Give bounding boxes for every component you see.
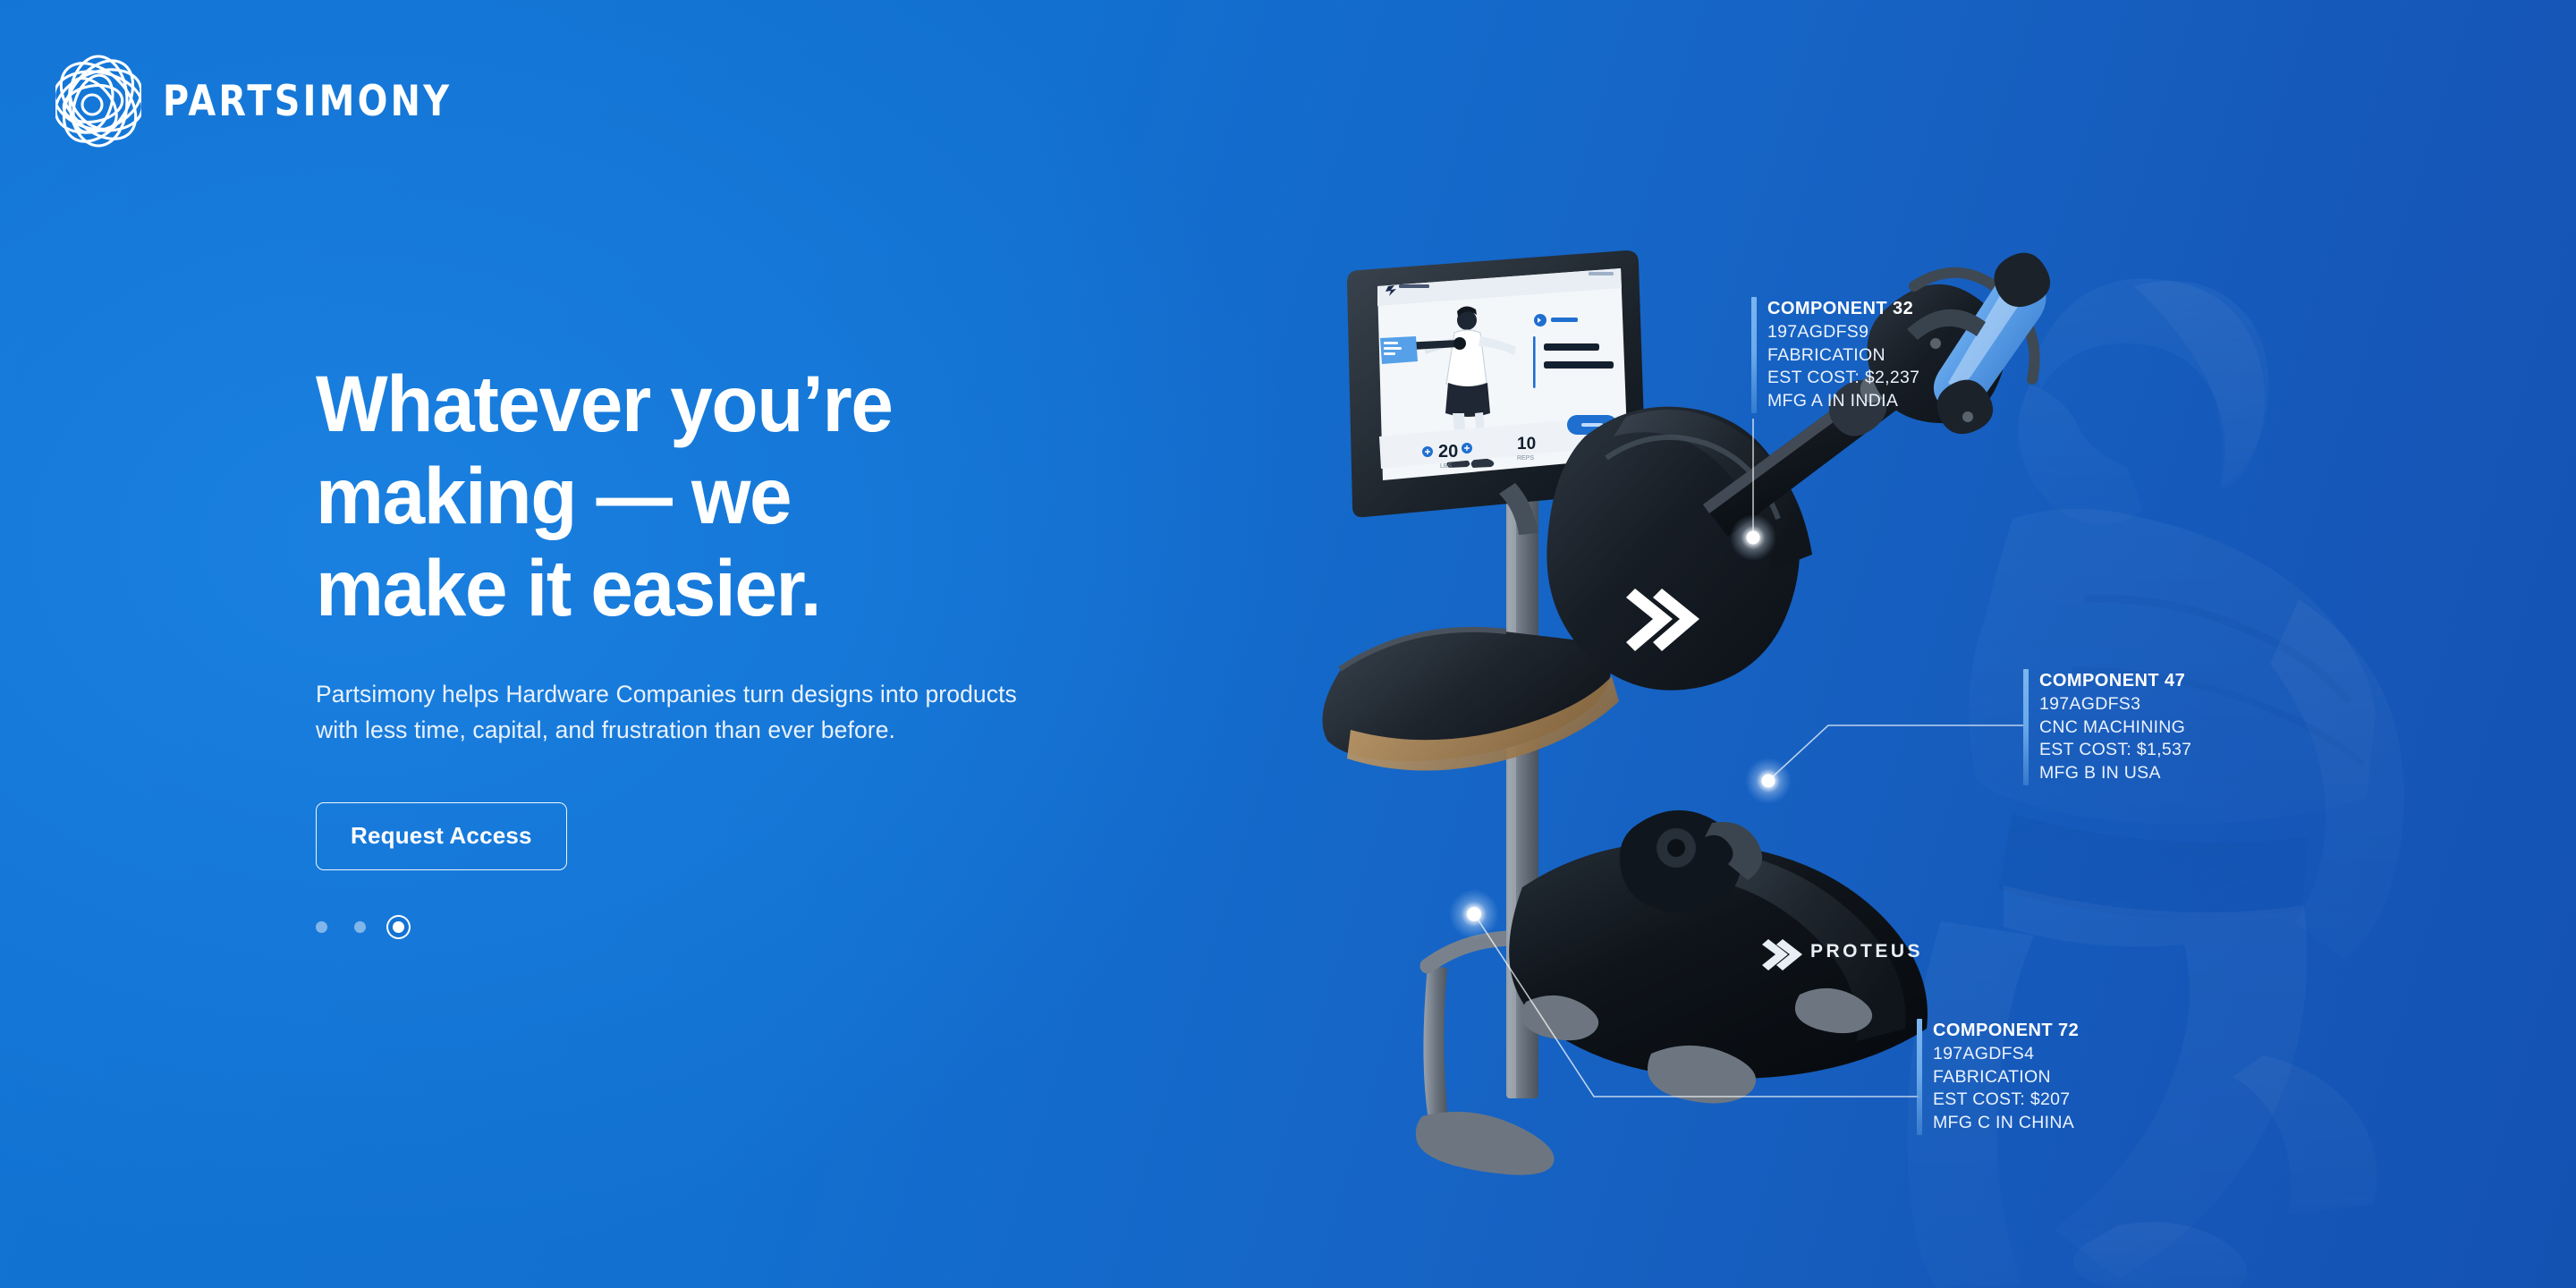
svg-text:10: 10 — [1517, 435, 1536, 453]
carousel-dots[interactable] — [316, 915, 1300, 938]
product-image-proteus-machine: 20 LBS 10 REPS — [1342, 250, 2236, 1199]
bench-seat — [1322, 630, 1619, 771]
svg-text:PROTEUS: PROTEUS — [1810, 941, 1923, 962]
brand-logo[interactable]: PARTSIMONY — [55, 52, 470, 150]
resistance-arm — [1703, 253, 2050, 537]
carousel-dot-3-active[interactable] — [393, 921, 404, 933]
subcopy-line-2: with less time, capital, and frustration… — [316, 716, 895, 743]
hero-copy: Whatever you’re making — we make it easi… — [316, 358, 1300, 938]
page-title: Whatever you’re making — we make it easi… — [316, 358, 1089, 635]
svg-text:REPS: REPS — [1517, 455, 1534, 462]
machine-base: PROTEUS — [1509, 810, 1928, 1104]
hero-subcopy: Partsimony helps Hardware Companies turn… — [316, 676, 1237, 749]
headline-line-2: making — we — [316, 451, 791, 540]
product-illustration: 20 LBS 10 REPS — [1342, 250, 2236, 1199]
svg-text:20: 20 — [1438, 442, 1458, 462]
subcopy-line-1: Partsimony helps Hardware Companies turn… — [316, 681, 1017, 708]
carousel-dot-2[interactable] — [354, 921, 366, 933]
carousel-dot-1[interactable] — [316, 921, 327, 933]
request-access-button[interactable]: Request Access — [316, 802, 567, 870]
brand-wordmark: PARTSIMONY — [163, 80, 452, 123]
hero-section: PARTSIMONY Whatever you’re making — we m… — [0, 0, 2576, 1288]
headline-line-3: make it easier. — [316, 543, 820, 632]
svg-text:LBS: LBS — [1440, 463, 1453, 470]
screen-reps-readout: 10 REPS — [1517, 435, 1536, 462]
partsimony-swirl-logo-icon — [55, 52, 141, 150]
headline-line-1: Whatever you’re — [316, 359, 893, 448]
machine-head-unit — [1546, 407, 1812, 691]
